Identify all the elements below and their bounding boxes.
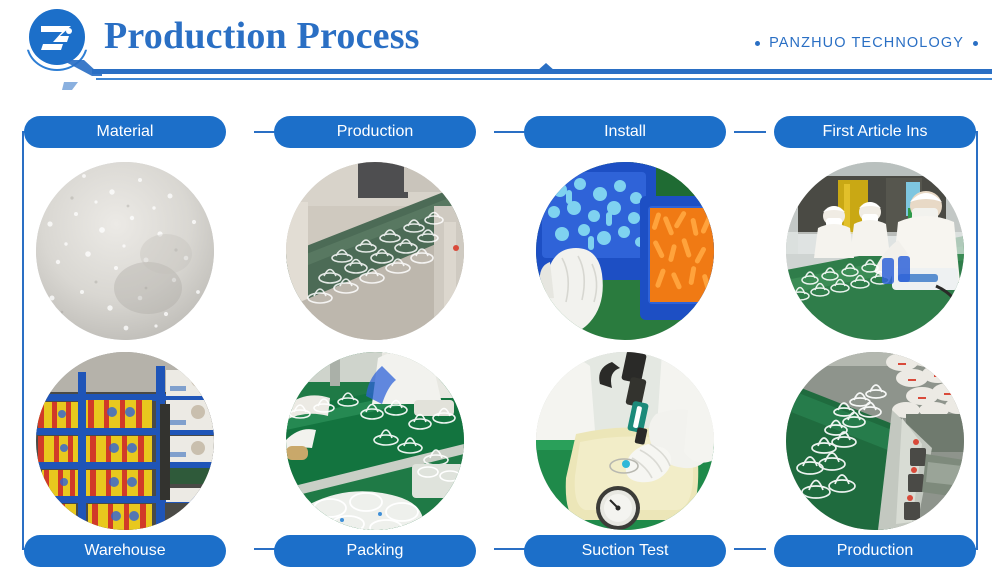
step-label-install[interactable]: Install xyxy=(524,116,726,148)
photo-cell xyxy=(250,352,500,530)
page-header: Production Process PANZHUO TECHNOLOGY xyxy=(0,0,1000,92)
bullet-dot-left-icon xyxy=(755,41,760,46)
step-label-cell: Packing xyxy=(250,535,500,567)
brand-name: PANZHUO TECHNOLOGY xyxy=(769,35,964,51)
photo-workers-inspecting-cups-production-line xyxy=(786,162,964,340)
photo-cell xyxy=(500,352,750,530)
step-label-material[interactable]: Material xyxy=(24,116,226,148)
header-rule-left-wedge xyxy=(62,60,102,90)
photo-blue-racking-shelves-stacked-product-boxes xyxy=(36,352,214,530)
photo-cell xyxy=(750,352,1000,530)
photo-cell xyxy=(750,162,1000,340)
process-photos-bottom xyxy=(0,352,1000,530)
step-label-production-top[interactable]: Production xyxy=(274,116,476,148)
photo-cell xyxy=(500,162,750,340)
step-label-cell: Suction Test xyxy=(500,535,750,567)
photo-green-conveyor-cups-material-sacks xyxy=(786,352,964,530)
process-photos-top xyxy=(0,162,1000,340)
step-label-cell: Production xyxy=(750,535,1000,567)
process-step-labels-bottom: Warehouse Packing Suction Test Productio… xyxy=(0,535,1000,567)
step-label-cell: Material xyxy=(0,116,250,148)
step-label-cell: Install xyxy=(500,116,750,148)
step-label-first-article-inspection[interactable]: First Article Ins xyxy=(774,116,976,148)
logo-monogram-icon xyxy=(29,9,85,65)
step-label-cell: Production xyxy=(250,116,500,148)
header-divider-thin xyxy=(96,78,992,80)
process-step-labels-top: Material Production Install First Articl… xyxy=(0,116,1000,148)
photo-clear-cups-on-conveyor-molding-line xyxy=(286,162,464,340)
bullet-dot-right-icon xyxy=(973,41,978,46)
step-label-cell: First Article Ins xyxy=(750,116,1000,148)
photo-cell xyxy=(250,162,500,340)
page-title: Production Process xyxy=(104,14,420,58)
photo-cell xyxy=(0,352,250,530)
step-label-warehouse[interactable]: Warehouse xyxy=(24,535,226,567)
header-divider-notch-icon xyxy=(537,63,555,71)
step-label-production-bottom[interactable]: Production xyxy=(774,535,976,567)
step-label-suction-test[interactable]: Suction Test xyxy=(524,535,726,567)
photo-worker-packing-cups-green-conveyor xyxy=(286,352,464,530)
photo-cell xyxy=(0,162,250,340)
photo-gloved-hand-blue-crates-valve-parts xyxy=(536,162,714,340)
photo-plastic-resin-granules-closeup xyxy=(36,162,214,340)
step-label-packing[interactable]: Packing xyxy=(274,535,476,567)
photo-technician-suction-gun-test-on-foam-pad xyxy=(536,352,714,530)
brand-tagline: PANZHUO TECHNOLOGY xyxy=(755,35,978,51)
step-label-cell: Warehouse xyxy=(0,535,250,567)
